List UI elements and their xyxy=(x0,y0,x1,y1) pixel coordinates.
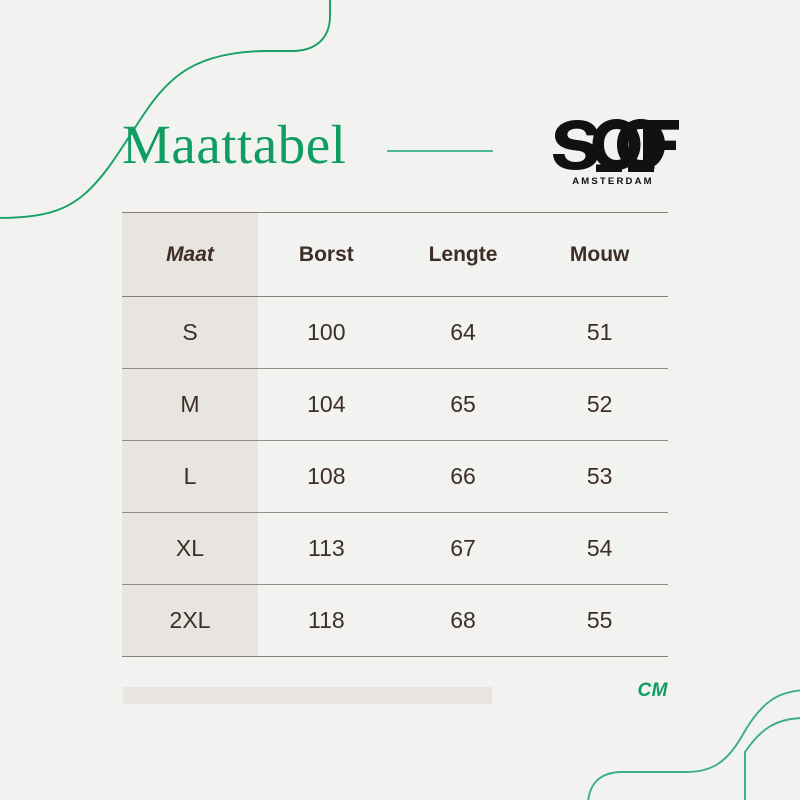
cell-mouw: 53 xyxy=(531,441,668,513)
table-header-row: Maat Borst Lengte Mouw xyxy=(122,213,668,297)
cell-maat: L xyxy=(122,441,258,513)
cell-lengte: 68 xyxy=(395,585,532,657)
cell-maat: XL xyxy=(122,513,258,585)
size-table-container: Maat Borst Lengte Mouw S 100 64 51 M 104… xyxy=(122,212,668,657)
cell-lengte: 66 xyxy=(395,441,532,513)
cell-mouw: 52 xyxy=(531,369,668,441)
cell-maat: 2XL xyxy=(122,585,258,657)
cell-borst: 104 xyxy=(258,369,395,441)
size-table: Maat Borst Lengte Mouw S 100 64 51 M 104… xyxy=(122,212,668,657)
logo-tagline: AMSTERDAM xyxy=(547,176,679,187)
page-title: Maattabel xyxy=(122,114,346,176)
table-row: L 108 66 53 xyxy=(122,441,668,513)
cell-maat: S xyxy=(122,297,258,369)
title-rule xyxy=(387,150,493,152)
bottom-right-curve-icon xyxy=(745,718,800,800)
footer-accent-bar xyxy=(123,687,492,704)
brand-logo: AMSTERDAM xyxy=(547,112,679,196)
cell-mouw: 55 xyxy=(531,585,668,657)
cell-maat: M xyxy=(122,369,258,441)
table-body: S 100 64 51 M 104 65 52 L 108 66 53 xyxy=(122,297,668,657)
column-header-maat: Maat xyxy=(122,213,258,297)
unit-label: CM xyxy=(600,680,668,702)
cell-lengte: 64 xyxy=(395,297,532,369)
cell-mouw: 54 xyxy=(531,513,668,585)
table-row: XL 113 67 54 xyxy=(122,513,668,585)
column-header-lengte: Lengte xyxy=(395,213,532,297)
soof-wordmark-icon xyxy=(547,112,679,174)
column-header-mouw: Mouw xyxy=(531,213,668,297)
cell-borst: 108 xyxy=(258,441,395,513)
column-header-borst: Borst xyxy=(258,213,395,297)
header: Maattabel AMSTERDAM xyxy=(122,108,670,198)
cell-lengte: 67 xyxy=(395,513,532,585)
table-header: Maat Borst Lengte Mouw xyxy=(122,213,668,297)
cell-mouw: 51 xyxy=(531,297,668,369)
cell-borst: 118 xyxy=(258,585,395,657)
cell-lengte: 65 xyxy=(395,369,532,441)
size-chart-page: Maattabel AMSTERDAM xyxy=(0,0,800,800)
cell-borst: 100 xyxy=(258,297,395,369)
table-row: 2XL 118 68 55 xyxy=(122,585,668,657)
table-row: M 104 65 52 xyxy=(122,369,668,441)
cell-borst: 113 xyxy=(258,513,395,585)
table-row: S 100 64 51 xyxy=(122,297,668,369)
bottom-right-curve-inner-icon xyxy=(588,690,800,800)
